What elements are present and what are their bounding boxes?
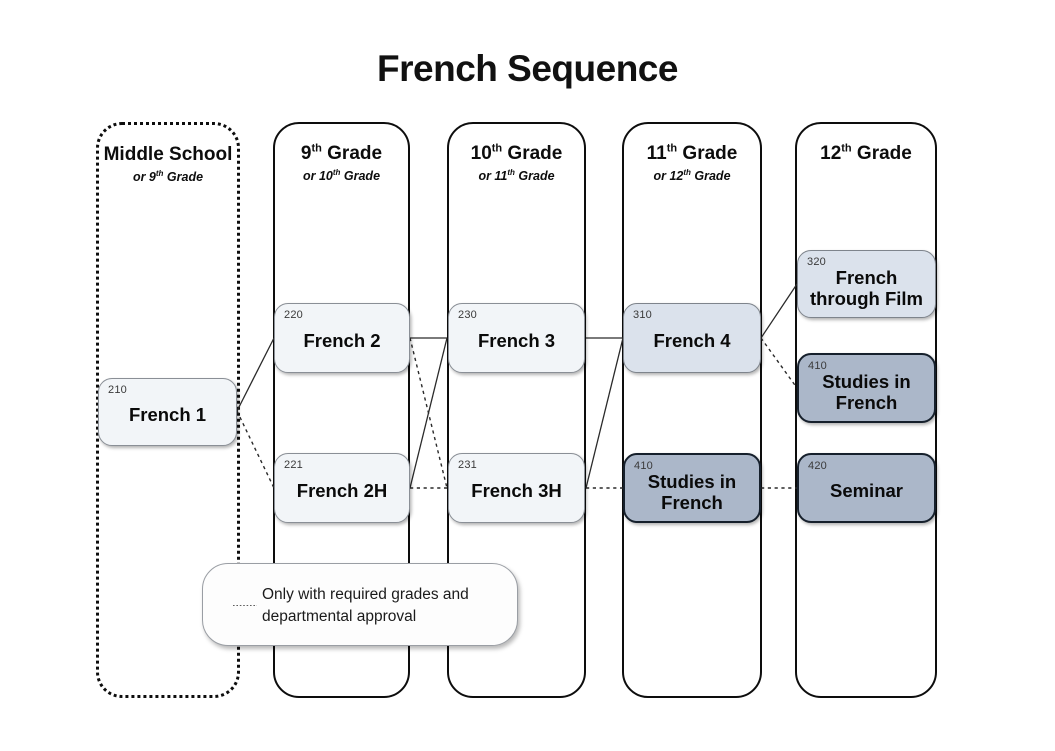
column-header-middle-school: Middle School or 9th Grade xyxy=(99,145,237,184)
column-header-grade-9: 9th Grade or 10th Grade xyxy=(275,144,408,183)
column-title: 9th Grade xyxy=(275,144,408,164)
course-label: French 2H xyxy=(291,481,393,502)
course-box-french-3h[interactable]: 231 French 3H xyxy=(448,453,585,523)
column-subtitle: or 11th Grade xyxy=(449,169,584,183)
course-box-french-2h[interactable]: 221 French 2H xyxy=(274,453,410,523)
course-box-french-through-film[interactable]: 320 French through Film xyxy=(797,250,936,318)
course-box-french-3[interactable]: 230 French 3 xyxy=(448,303,585,373)
course-label: French 2 xyxy=(297,331,386,352)
column-header-grade-11: 11th Grade or 12th Grade xyxy=(624,144,760,183)
course-box-studies-in-french-grade-12[interactable]: 410 Studies in French xyxy=(797,353,936,423)
legend-text: Only with required grades and department… xyxy=(262,584,503,628)
column-subtitle: or 12th Grade xyxy=(624,169,760,183)
course-code: 310 xyxy=(633,309,652,321)
column-header-grade-10: 10th Grade or 11th Grade xyxy=(449,144,584,183)
course-box-french-1[interactable]: 210 French 1 xyxy=(98,378,237,446)
course-code: 220 xyxy=(284,309,303,321)
course-label: Studies in French xyxy=(625,472,759,513)
column-title: Middle School xyxy=(99,145,237,165)
column-subtitle: or 9th Grade xyxy=(99,170,237,184)
edge-french-2h-to-french-3 xyxy=(410,338,447,488)
column-title: 10th Grade xyxy=(449,144,584,164)
course-box-french-4[interactable]: 310 French 4 xyxy=(623,303,761,373)
course-code: 410 xyxy=(634,460,653,472)
course-box-seminar[interactable]: 420 Seminar xyxy=(797,453,936,523)
column-grade-11: 11th Grade or 12th Grade xyxy=(622,122,762,698)
course-code: 420 xyxy=(808,460,827,472)
course-code: 410 xyxy=(808,360,827,372)
course-label: French 3H xyxy=(465,481,567,502)
edge-french-3h-to-french-4 xyxy=(586,338,623,488)
course-label: French 3 xyxy=(472,331,561,352)
course-code: 231 xyxy=(458,459,477,471)
course-code: 320 xyxy=(807,256,826,268)
page-title: French Sequence xyxy=(0,48,1055,90)
course-code: 230 xyxy=(458,309,477,321)
legend-text-line-1: Only with required grades and xyxy=(262,584,503,606)
column-header-grade-12: 12th Grade xyxy=(797,144,935,164)
course-code: 210 xyxy=(108,384,127,396)
column-subtitle: or 10th Grade xyxy=(275,169,408,183)
edge-french-1-to-french-2 xyxy=(237,338,274,411)
course-label: Seminar xyxy=(824,481,909,502)
course-box-french-2[interactable]: 220 French 2 xyxy=(274,303,410,373)
course-label: Studies in French xyxy=(799,372,934,413)
course-code: 221 xyxy=(284,459,303,471)
edge-french-1-to-french-2h xyxy=(237,411,274,488)
course-label: French 1 xyxy=(123,405,212,426)
column-title: 11th Grade xyxy=(624,144,760,164)
course-box-studies-in-french-grade-11[interactable]: 410 Studies in French xyxy=(623,453,761,523)
edge-french-4-to-studies-in-french-12 xyxy=(761,338,797,388)
diagram-canvas: French Sequence Middle School or 9th Gra… xyxy=(0,0,1055,751)
legend-text-line-2: departmental approval xyxy=(262,606,503,628)
course-label: French 4 xyxy=(647,331,736,352)
edge-french-2-to-french-3h xyxy=(410,338,447,488)
column-title: 12th Grade xyxy=(797,144,935,164)
course-label: French through Film xyxy=(798,268,935,309)
edge-french-4-to-french-through-film xyxy=(761,284,797,338)
legend-box: Only with required grades and department… xyxy=(202,563,518,646)
